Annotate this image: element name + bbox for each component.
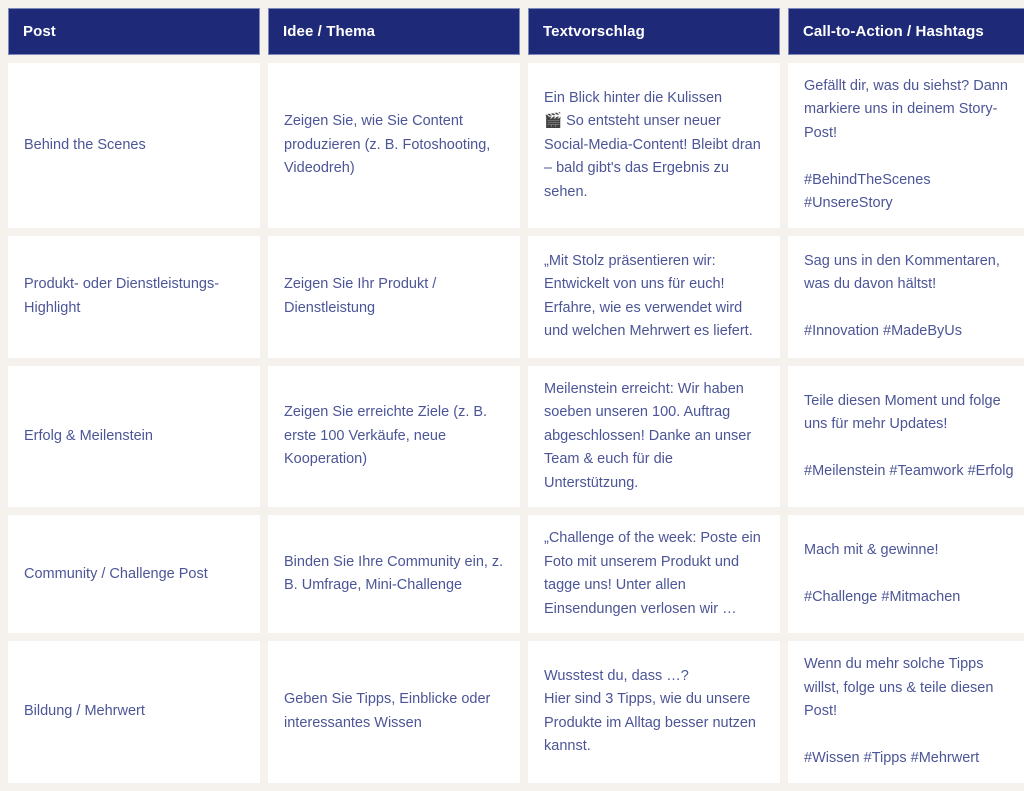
cell-cta: Gefällt dir, was du siehst? Dann markier… bbox=[788, 63, 1024, 228]
cell-post: Produkt- oder Dienstleistungs-Highlight bbox=[8, 236, 260, 358]
cell-idee: Zeigen Sie Ihr Produkt / Dienstleistung bbox=[268, 236, 520, 358]
content-plan-container: Post Idee / Thema Textvorschlag Call-to-… bbox=[0, 0, 1024, 769]
column-header-call-to-action-hashtags[interactable]: Call-to-Action / Hashtags bbox=[788, 8, 1024, 55]
cell-cta: Teile diesen Moment und folge uns für me… bbox=[788, 366, 1024, 507]
table-body: Behind the Scenes Zeigen Sie, wie Sie Co… bbox=[8, 63, 1024, 783]
cell-idee: Geben Sie Tipps, Einblicke oder interess… bbox=[268, 641, 520, 782]
cell-idee: Binden Sie Ihre Community ein, z. B. Umf… bbox=[268, 515, 520, 633]
cell-cta: Mach mit & gewinne! #Challenge #Mitmache… bbox=[788, 515, 1024, 633]
cell-idee: Zeigen Sie, wie Sie Content produzieren … bbox=[268, 63, 520, 228]
table-header: Post Idee / Thema Textvorschlag Call-to-… bbox=[8, 8, 1024, 55]
cell-textvorschlag: Wusstest du, dass …? Hier sind 3 Tipps, … bbox=[528, 641, 780, 782]
cell-cta: Wenn du mehr solche Tipps willst, folge … bbox=[788, 641, 1024, 782]
cell-textvorschlag: „Challenge of the week: Poste ein Foto m… bbox=[528, 515, 780, 633]
cell-post: Community / Challenge Post bbox=[8, 515, 260, 633]
cell-post: Erfolg & Meilenstein bbox=[8, 366, 260, 507]
table-row: Erfolg & Meilenstein Zeigen Sie erreicht… bbox=[8, 366, 1024, 507]
column-header-textvorschlag[interactable]: Textvorschlag bbox=[528, 8, 780, 55]
cell-idee: Zeigen Sie erreichte Ziele (z. B. erste … bbox=[268, 366, 520, 507]
table-row: Bildung / Mehrwert Geben Sie Tipps, Einb… bbox=[8, 641, 1024, 782]
cell-post: Behind the Scenes bbox=[8, 63, 260, 228]
cell-post: Bildung / Mehrwert bbox=[8, 641, 260, 782]
cell-textvorschlag: Meilenstein erreicht: Wir haben soeben u… bbox=[528, 366, 780, 507]
table-row: Behind the Scenes Zeigen Sie, wie Sie Co… bbox=[8, 63, 1024, 228]
column-header-post[interactable]: Post bbox=[8, 8, 260, 55]
cell-cta: Sag uns in den Kommentaren, was du davon… bbox=[788, 236, 1024, 358]
column-header-idee-thema[interactable]: Idee / Thema bbox=[268, 8, 520, 55]
cell-textvorschlag: Ein Blick hinter die Kulissen 🎬 So entst… bbox=[528, 63, 780, 228]
cell-textvorschlag: „Mit Stolz präsentieren wir: Entwickelt … bbox=[528, 236, 780, 358]
header-row: Post Idee / Thema Textvorschlag Call-to-… bbox=[8, 8, 1024, 55]
content-plan-table: Post Idee / Thema Textvorschlag Call-to-… bbox=[0, 0, 1024, 791]
table-row: Community / Challenge Post Binden Sie Ih… bbox=[8, 515, 1024, 633]
table-row: Produkt- oder Dienstleistungs-Highlight … bbox=[8, 236, 1024, 358]
